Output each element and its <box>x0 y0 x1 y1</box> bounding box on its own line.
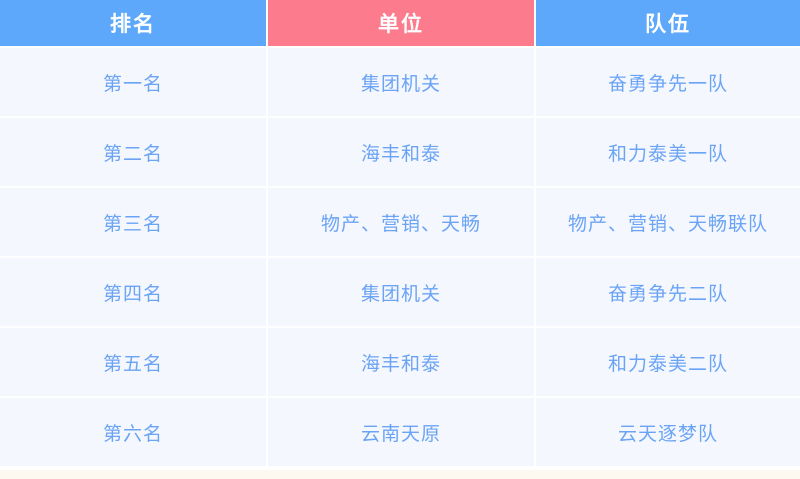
cell-team-text: 物产、营销、天畅联队 <box>568 209 768 236</box>
cell-rank: 第一名 <box>0 48 266 116</box>
cell-unit-text: 云南天原 <box>361 419 441 446</box>
cell-unit-text: 集团机关 <box>361 69 441 96</box>
cell-unit: 海丰和泰 <box>268 328 534 396</box>
cell-team: 云天逐梦队 <box>536 398 800 466</box>
table-row: 第三名 物产、营销、天畅 物产、营销、天畅联队 <box>0 188 800 258</box>
column-header-team-label: 队伍 <box>645 8 691 38</box>
cell-team-text: 和力泰美一队 <box>608 139 728 166</box>
cell-rank: 第三名 <box>0 188 266 256</box>
page-bottom-strip <box>0 470 800 479</box>
cell-unit: 集团机关 <box>268 258 534 326</box>
table-row: 第五名 海丰和泰 和力泰美二队 <box>0 328 800 398</box>
cell-rank: 第二名 <box>0 118 266 186</box>
cell-team: 物产、营销、天畅联队 <box>536 188 800 256</box>
cell-rank-text: 第六名 <box>103 419 163 446</box>
ranking-table: 排名 单位 队伍 第一名 集团机关 奋勇争先一队 第二名 海丰和泰 <box>0 0 800 470</box>
cell-team-text: 奋勇争先一队 <box>608 69 728 96</box>
cell-rank-text: 第四名 <box>103 279 163 306</box>
cell-team: 奋勇争先二队 <box>536 258 800 326</box>
column-header-rank-label: 排名 <box>110 8 156 38</box>
cell-unit: 集团机关 <box>268 48 534 116</box>
cell-unit: 海丰和泰 <box>268 118 534 186</box>
cell-unit-text: 物产、营销、天畅 <box>321 209 481 236</box>
cell-rank-text: 第二名 <box>103 139 163 166</box>
cell-rank: 第四名 <box>0 258 266 326</box>
cell-team: 和力泰美一队 <box>536 118 800 186</box>
column-header-unit: 单位 <box>268 0 534 46</box>
cell-team-text: 和力泰美二队 <box>608 349 728 376</box>
cell-team: 奋勇争先一队 <box>536 48 800 116</box>
column-header-rank: 排名 <box>0 0 266 46</box>
cell-rank: 第五名 <box>0 328 266 396</box>
cell-team-text: 云天逐梦队 <box>618 419 718 446</box>
cell-rank: 第六名 <box>0 398 266 466</box>
cell-rank-text: 第一名 <box>103 69 163 96</box>
table-row: 第四名 集团机关 奋勇争先二队 <box>0 258 800 328</box>
cell-team: 和力泰美二队 <box>536 328 800 396</box>
table-row: 第六名 云南天原 云天逐梦队 <box>0 398 800 468</box>
cell-unit: 云南天原 <box>268 398 534 466</box>
cell-team-text: 奋勇争先二队 <box>608 279 728 306</box>
column-header-team: 队伍 <box>536 0 800 46</box>
cell-unit-text: 海丰和泰 <box>361 139 441 166</box>
table-row: 第二名 海丰和泰 和力泰美一队 <box>0 118 800 188</box>
cell-rank-text: 第五名 <box>103 349 163 376</box>
cell-unit-text: 集团机关 <box>361 279 441 306</box>
column-header-unit-label: 单位 <box>378 8 424 38</box>
cell-unit-text: 海丰和泰 <box>361 349 441 376</box>
cell-rank-text: 第三名 <box>103 209 163 236</box>
table-row: 第一名 集团机关 奋勇争先一队 <box>0 48 800 118</box>
cell-unit: 物产、营销、天畅 <box>268 188 534 256</box>
table-body: 第一名 集团机关 奋勇争先一队 第二名 海丰和泰 和力泰美一队 第三名 <box>0 48 800 470</box>
table-header-row: 排名 单位 队伍 <box>0 0 800 48</box>
